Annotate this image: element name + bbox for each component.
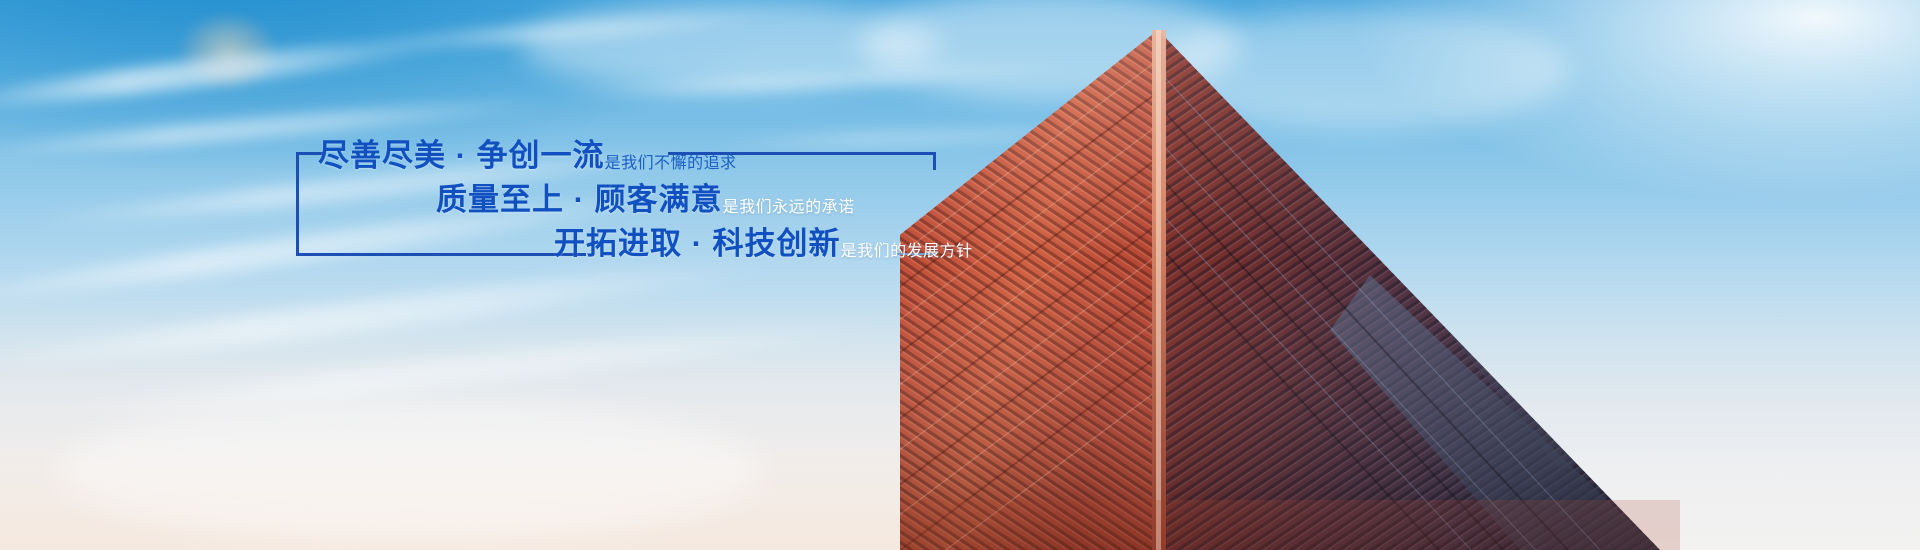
slogan-tail-3: 是我们的发展方针 xyxy=(841,243,973,260)
slogan-line-1: 尽善尽美 · 争创一流是我们不懈的追求 xyxy=(318,140,737,171)
slogan-headline-3: 开拓进取 · 科技创新 xyxy=(554,226,841,261)
slogan-headline-1: 尽善尽美 · 争创一流 xyxy=(318,138,605,173)
slogan-block: 尽善尽美 · 争创一流是我们不懈的追求 质量至上 · 顾客满意是我们永远的承诺 … xyxy=(296,140,956,260)
slogan-line-2: 质量至上 · 顾客满意是我们永远的承诺 xyxy=(436,184,855,215)
slogan-headline-2: 质量至上 · 顾客满意 xyxy=(436,182,723,217)
frame-bottom-horizontal xyxy=(296,253,586,256)
cloud-puff xyxy=(60,400,760,540)
hero-banner: 尽善尽美 · 争创一流是我们不懈的追求 质量至上 · 顾客满意是我们永远的承诺 … xyxy=(0,0,1920,550)
skyscraper-svg xyxy=(900,30,1920,550)
frame-right-vertical xyxy=(933,152,936,170)
slogan-tail-2: 是我们永远的承诺 xyxy=(723,199,855,216)
frame-left-vertical xyxy=(296,152,299,256)
slogan-tail-1: 是我们不懈的追求 xyxy=(605,155,737,172)
skyscraper-apex xyxy=(900,30,1920,550)
slogan-line-3: 开拓进取 · 科技创新是我们的发展方针 xyxy=(554,228,973,259)
